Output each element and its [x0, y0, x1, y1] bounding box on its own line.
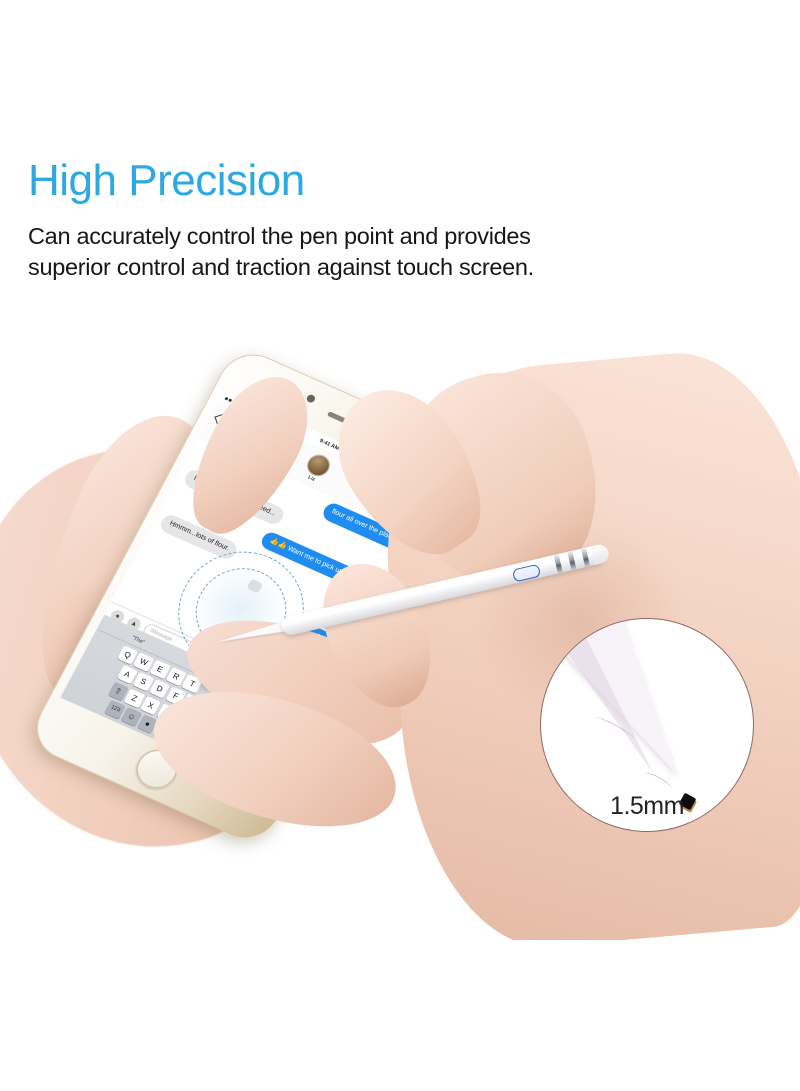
- stylus-band: [567, 551, 576, 571]
- tip-size-label: 1.5mm: [610, 792, 684, 821]
- stylus-band: [581, 548, 590, 568]
- subtitle-line-2: superior control and traction against to…: [28, 252, 534, 283]
- stylus-band: [554, 554, 563, 574]
- subtitle-line-1: Can accurately control the pen point and…: [28, 221, 534, 252]
- page-subtitle: Can accurately control the pen point and…: [28, 221, 534, 282]
- front-camera-icon: [305, 393, 316, 403]
- tip-magnifier-callout: 1.5mm: [540, 618, 754, 832]
- prediction-item[interactable]: "The": [131, 635, 146, 646]
- tapback-indicator: [246, 579, 263, 594]
- page-title: High Precision: [28, 158, 305, 204]
- product-photo: 9:41 AM 100% Liz i flour all over the pl…: [0, 300, 800, 940]
- contact-name: Liz: [307, 475, 316, 483]
